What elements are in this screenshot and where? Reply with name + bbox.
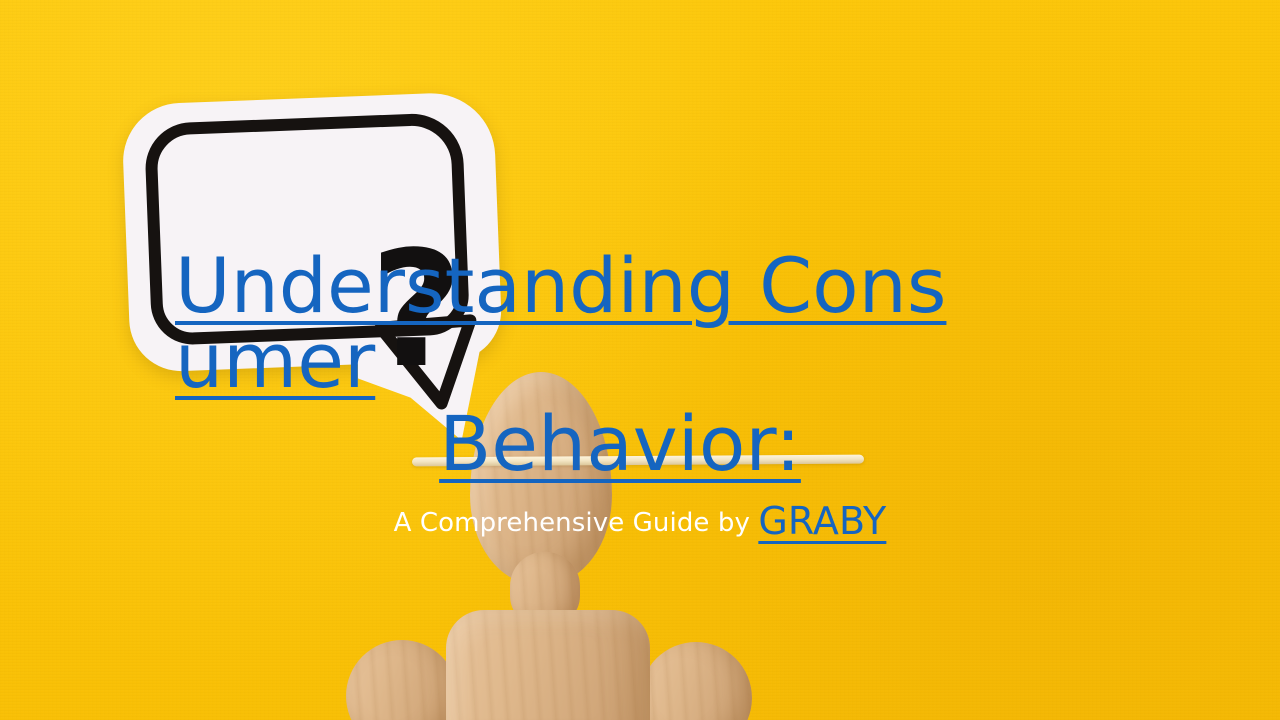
title-line-3: Behavior: bbox=[175, 406, 1065, 481]
brand-link-graby[interactable]: GRABY bbox=[758, 499, 886, 543]
presentation-slide: ? Understanding Cons umer Behavior: A Co… bbox=[0, 0, 1280, 720]
subtitle-lead-text: A Comprehensive Guide by bbox=[394, 508, 759, 538]
slide-text-layer: Understanding Cons umer Behavior: A Comp… bbox=[0, 0, 1280, 720]
title-line-1: Understanding Cons bbox=[175, 248, 1065, 323]
subtitle: A Comprehensive Guide by GRABY bbox=[0, 500, 1280, 544]
page-title[interactable]: Understanding Cons umer Behavior: bbox=[175, 248, 1065, 482]
title-line-2: umer bbox=[175, 323, 1065, 398]
